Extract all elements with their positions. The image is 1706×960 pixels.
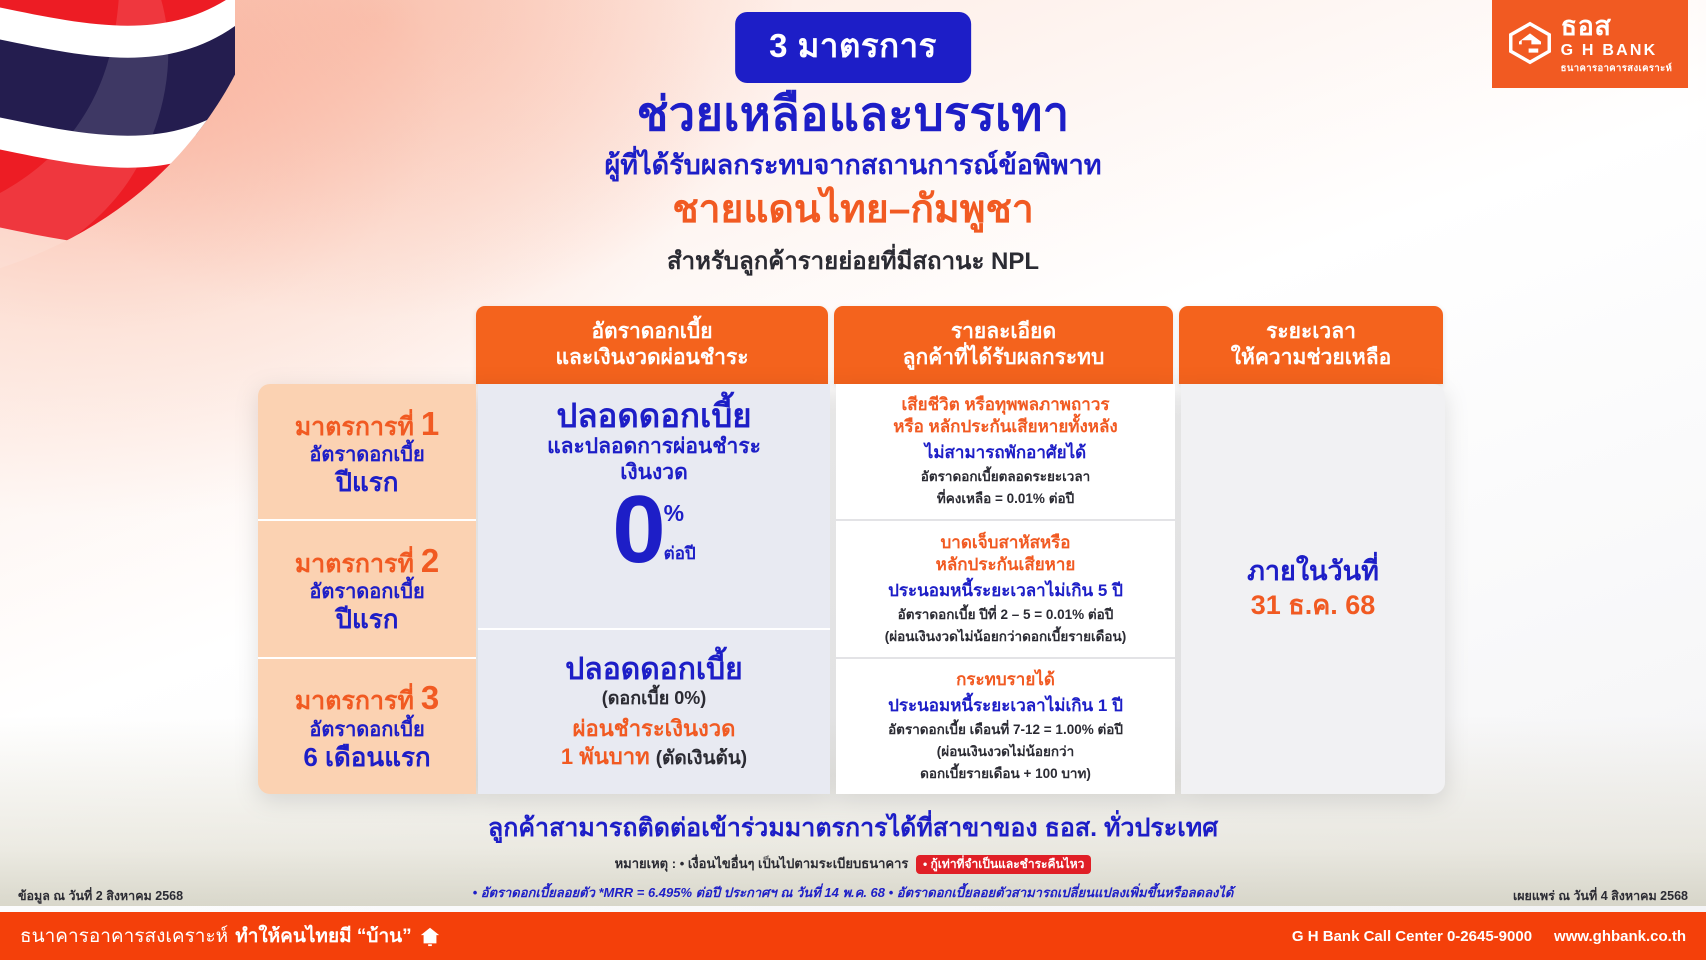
header-time-line1: ระยะเวลา (1266, 319, 1356, 345)
measure-2-rate-label: อัตราดอกเบี้ย (309, 580, 424, 605)
header-detail-line2: ลูกค้าที่ได้รับผลกระทบ (903, 345, 1105, 371)
bank-slogan: ธนาคารอาคารสงเคราะห์ ทำให้คนไทยมี “บ้าน” (20, 921, 441, 951)
rate-column: ปลอดดอกเบี้ย และปลอดการผ่อนชำระ เงินงวด … (478, 384, 830, 794)
rate-bottom-head: ปลอดดอกเบี้ย (565, 653, 742, 686)
measure-2-title: มาตรการที่ 2 (295, 543, 440, 579)
table-header-row: อัตราดอกเบี้ย และเงินงวดผ่อนชำระ รายละเอ… (476, 306, 1443, 384)
detail-3-head-line1: กระทบรายได้ (956, 669, 1055, 691)
measure-3-title-text: มาตรการที่ (295, 687, 421, 715)
rate-zero-group: 0 % ต่อปี (612, 484, 695, 575)
header-detail: รายละเอียด ลูกค้าที่ได้รับผลกระทบ (834, 306, 1173, 384)
footnote-label: หมายเหตุ : (615, 856, 676, 871)
measures-badge: 3 มาตรการ (735, 12, 971, 83)
detail-cell-2: บาดเจ็บสาหัสหรือ หลักประกันเสียหาย ประนอ… (836, 521, 1175, 658)
header-rate: อัตราดอกเบี้ย และเงินงวดผ่อนชำระ (476, 306, 828, 384)
footnotes-line1: หมายเหตุ : • เงื่อนไขอื่นๆ เป็นไปตามระเบ… (0, 855, 1706, 874)
detail-2-small-line1: อัตราดอกเบี้ย ปีที่ 2 – 5 = 0.01% ต่อปี (898, 606, 1114, 625)
published-stamp: เผยแพร่ ณ วันที่ 4 สิงหาคม 2568 (1513, 886, 1688, 906)
measure-1-period: ปีแรก (336, 468, 399, 498)
header-time: ระยะเวลา ให้ความช่วยเหลือ (1179, 306, 1443, 384)
measure-2-title-text: มาตรการที่ (295, 550, 421, 578)
rate-per-year: ต่อปี (664, 545, 696, 562)
rate-bottom-amount-note: (ตัดเงินต้น) (656, 748, 747, 769)
logo-english-name: G H BANK (1561, 43, 1673, 59)
detail-1-mid: ไม่สามารถพักอาศัยได้ (925, 442, 1086, 465)
detail-3-mid: ประนอมหนี้ระยะเวลาไม่เกิน 1 ปี (888, 695, 1123, 718)
call-to-action: ลูกค้าสามารถติดต่อเข้าร่วมมาตรการได้ที่ส… (0, 808, 1706, 848)
measure-1-rate-label: อัตราดอกเบี้ย (309, 443, 424, 468)
header-detail-line1: รายละเอียด (951, 319, 1056, 345)
logo-thai-name: ธอส (1561, 13, 1673, 40)
detail-1-small-line2: ที่คงเหลือ = 0.01% ต่อปี (937, 490, 1074, 509)
detail-1-small-line1: อัตราดอกเบี้ยตลอดระยะเวลา (921, 468, 1090, 487)
home-icon (419, 925, 441, 947)
measure-1-title-text: มาตรการที่ (295, 413, 421, 441)
bottom-bar: ธนาคารอาคารสงเคราะห์ ทำให้คนไทยมี “บ้าน”… (0, 912, 1706, 960)
time-line2: 31 ธ.ค. 68 (1251, 589, 1376, 623)
slogan-bank-name: ธนาคารอาคารสงเคราะห์ (20, 921, 228, 951)
time-column: ภายในวันที่ 31 ธ.ค. 68 (1181, 384, 1445, 794)
detail-3-small-line3: ดอกเบี้ยรายเดือน + 100 บาท) (920, 765, 1091, 784)
website-link[interactable]: www.ghbank.co.th (1554, 928, 1686, 945)
detail-1-head-line1: เสียชีวิต หรือทุพพลภาพถาวร (901, 394, 1109, 416)
rate-bottom-sub: (ดอกเบี้ย 0%) (602, 688, 707, 710)
detail-2-head-line2: หลักประกันเสียหาย (936, 554, 1076, 576)
borrow-responsibly-pill: • กู้เท่าที่จำเป็นและชำระคืนไหว (916, 855, 1091, 874)
time-line1: ภายในวันที่ (1247, 555, 1379, 589)
detail-2-small-line2: (ผ่อนเงินงวดไม่น้อยกว่าดอกเบี้ยรายเดือน) (885, 628, 1126, 647)
header-rate-line1: อัตราดอกเบี้ย (591, 319, 712, 345)
footnote-1: • เงื่อนไขอื่นๆ เป็นไปตามระเบียบธนาคาร (680, 856, 909, 871)
logo-subtitle: ธนาคารอาคารสงเคราะห์ (1561, 64, 1673, 74)
detail-cell-3: กระทบรายได้ ประนอมหนี้ระยะเวลาไม่เกิน 1 … (836, 659, 1175, 794)
page-subtitle: ผู้ที่ได้รับผลกระทบจากสถานการณ์ข้อพิพาท (0, 150, 1706, 181)
contact-info: G H Bank Call Center 0-2645-9000 www.ghb… (1292, 928, 1686, 945)
rate-percent-sign: % (664, 502, 696, 525)
header-rate-line2: และเงินงวดผ่อนชำระ (555, 345, 748, 371)
rate-cell-3: ปลอดดอกเบี้ย (ดอกเบี้ย 0%) ผ่อนชำระเงินง… (478, 630, 830, 794)
page-title: ช่วยเหลือและบรรเทา (0, 88, 1706, 140)
measure-3-period: 6 เดือนแรก (303, 743, 430, 773)
table-body: มาตรการที่ 1 อัตราดอกเบี้ย ปีแรก มาตรการ… (258, 384, 1443, 794)
slogan-rest: ทำให้คนไทยมี “บ้าน” (235, 921, 411, 951)
measures-column: มาตรการที่ 1 อัตราดอกเบี้ย ปีแรก มาตรการ… (258, 384, 476, 794)
detail-column: เสียชีวิต หรือทุพพลภาพถาวร หรือ หลักประก… (836, 384, 1175, 794)
measure-1-title: มาตรการที่ 1 (295, 406, 440, 442)
ghbank-house-icon (1508, 21, 1552, 65)
header-time-line2: ให้ความช่วยเหลือ (1231, 345, 1391, 371)
measure-2-period: ปีแรก (336, 605, 399, 635)
measure-3-rate-label: อัตราดอกเบี้ย (309, 718, 424, 743)
rate-cell-merged-1-2: ปลอดดอกเบี้ย และปลอดการผ่อนชำระ เงินงวด … (478, 384, 830, 630)
measures-table: อัตราดอกเบี้ย และเงินงวดผ่อนชำระ รายละเอ… (258, 306, 1443, 794)
detail-3-small-line2: (ผ่อนเงินงวดไม่น้อยกว่า (937, 743, 1074, 762)
border-title: ชายแดนไทย–กัมพูชา (0, 188, 1706, 233)
call-center[interactable]: G H Bank Call Center 0-2645-9000 (1292, 928, 1532, 945)
detail-3-small-line1: อัตราดอกเบี้ย เดือนที่ 7-12 = 1.00% ต่อป… (888, 721, 1123, 740)
measure-row-1: มาตรการที่ 1 อัตราดอกเบี้ย ปีแรก (258, 384, 476, 521)
rate-bottom-pay-line: ผ่อนชำระเงินงวด (573, 716, 736, 742)
measure-3-number: 3 (421, 679, 439, 716)
data-as-of-stamp: ข้อมูล ณ วันที่ 2 สิงหาคม 2568 (18, 886, 183, 906)
rate-bottom-amount-value: 1 พันบาท (561, 744, 656, 769)
measure-row-3: มาตรการที่ 3 อัตราดอกเบี้ย 6 เดือนแรก (258, 659, 476, 794)
detail-2-head-line1: บาดเจ็บสาหัสหรือ (941, 532, 1071, 554)
measure-2-number: 2 (421, 542, 439, 579)
footnotes-line2: • อัตราดอกเบี้ยลอยตัว *MRR = 6.495% ต่อป… (0, 882, 1706, 903)
rate-bottom-amount: 1 พันบาท (ตัดเงินต้น) (561, 744, 747, 771)
ghbank-logo: ธอส G H BANK ธนาคารอาคารสงเคราะห์ (1492, 0, 1688, 88)
infographic-page: ธอส G H BANK ธนาคารอาคารสงเคราะห์ 3 มาตร… (0, 0, 1706, 960)
rate-top-head: ปลอดดอกเบี้ย (556, 398, 751, 434)
rate-top-sub1: และปลอดการผ่อนชำระ (547, 434, 761, 460)
npl-note: สำหรับลูกค้ารายย่อยที่มีสถานะ NPL (0, 248, 1706, 277)
rate-big-number: 0 (612, 484, 663, 575)
detail-1-head-line2: หรือ หลักประกันเสียหายทั้งหลัง (893, 416, 1117, 438)
measure-3-title: มาตรการที่ 3 (295, 680, 440, 716)
measure-row-2: มาตรการที่ 2 อัตราดอกเบี้ย ปีแรก (258, 521, 476, 658)
measure-1-number: 1 (421, 405, 439, 442)
detail-cell-1: เสียชีวิต หรือทุพพลภาพถาวร หรือ หลักประก… (836, 384, 1175, 521)
detail-2-mid: ประนอมหนี้ระยะเวลาไม่เกิน 5 ปี (888, 580, 1123, 603)
